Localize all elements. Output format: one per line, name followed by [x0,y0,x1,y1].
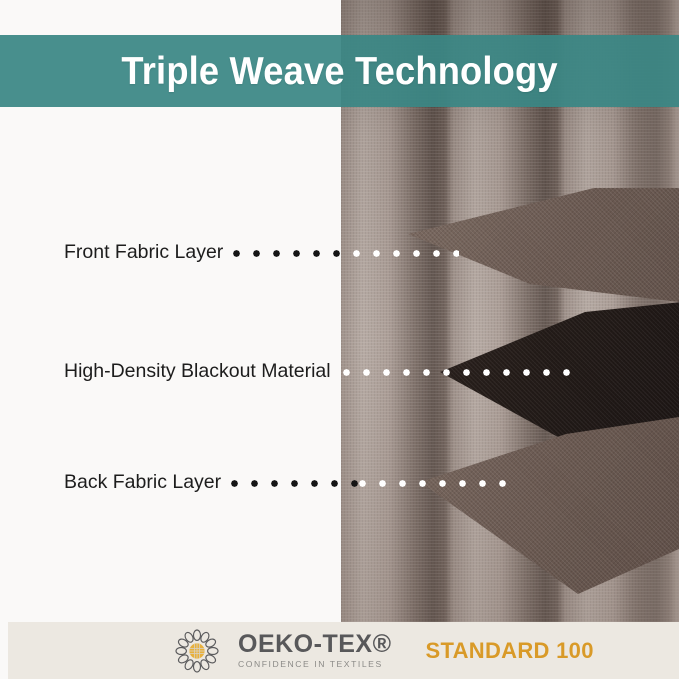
dotted-leader-icon [343,369,573,376]
standard-100-label: STANDARD 100 [426,638,594,664]
dotted-leader-icon [233,250,353,257]
certification-footer: OEKO-TEX® CONFIDENCE IN TEXTILES STANDAR… [8,622,679,679]
callout-label: High-Density Blackout Material [64,362,331,382]
oeko-tex-lockup: OEKO-TEX® CONFIDENCE IN TEXTILES [238,632,392,670]
callout-front-fabric-layer: Front Fabric Layer [64,240,459,266]
oeko-tex-tagline: CONFIDENCE IN TEXTILES [238,660,392,669]
callout-high-density-blackout-material: High-Density Blackout Material [64,359,573,385]
oeko-tex-wordmark: OEKO-TEX® [238,632,392,658]
oeko-tex-flower-icon [174,628,220,674]
title-banner: Triple Weave Technology [0,35,679,107]
callout-label: Back Fabric Layer [64,473,221,493]
callout-back-fabric-layer: Back Fabric Layer [64,470,509,496]
dotted-leader-icon [359,480,509,487]
page-title: Triple Weave Technology [121,52,557,91]
dotted-leader-icon [231,480,359,487]
dotted-leader-icon [353,250,459,257]
callout-label: Front Fabric Layer [64,243,223,263]
product-feature-infographic: Triple Weave Technology Front Fabric Lay… [0,0,679,679]
